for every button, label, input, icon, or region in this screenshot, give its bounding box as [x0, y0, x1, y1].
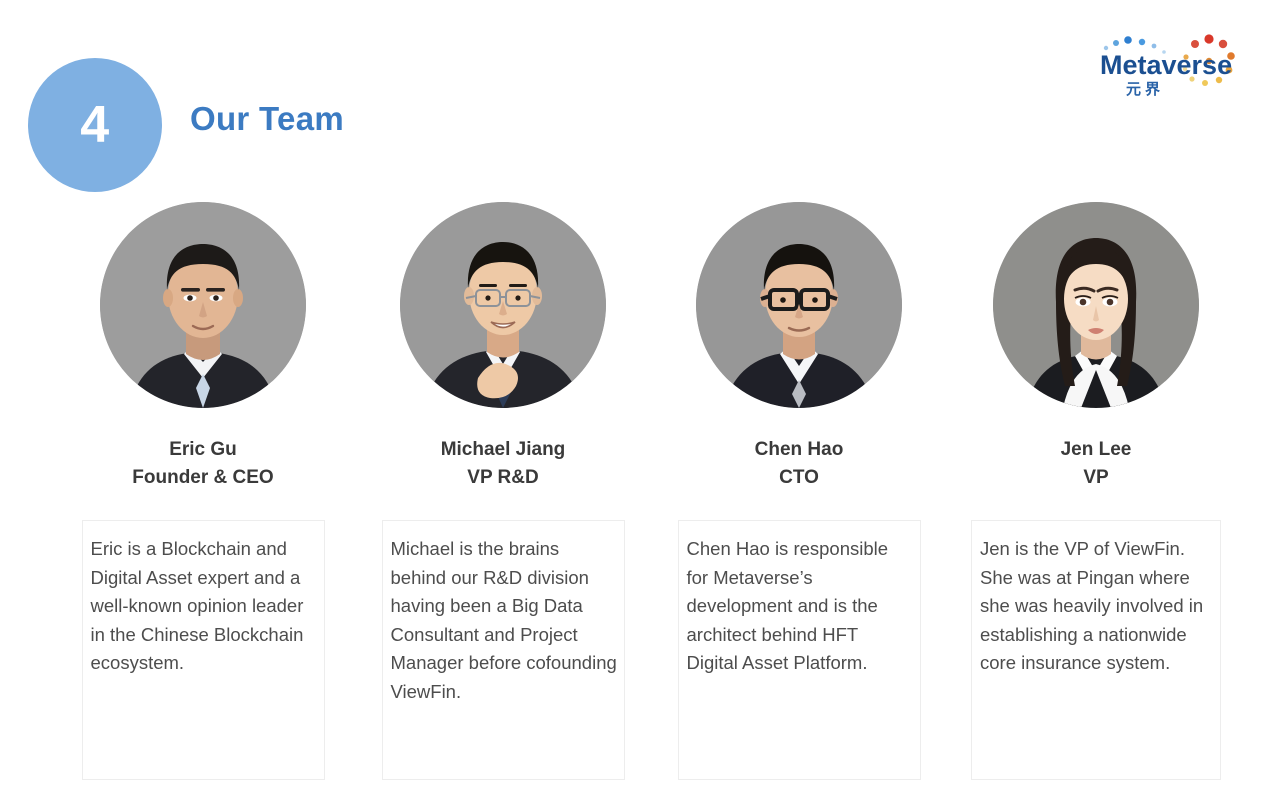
portrait-michael-jiang-icon	[400, 202, 606, 408]
member-name: Jen Lee	[948, 440, 1244, 459]
logo-subtext-chinese: 元界	[1126, 80, 1164, 98]
metaverse-logo: Metaverse 元界	[1064, 26, 1244, 106]
avatar	[100, 202, 306, 408]
metaverse-logo-svg: Metaverse 元界	[1064, 26, 1244, 106]
member-name: Eric Gu	[55, 440, 351, 459]
slide-header: 4 Our Team Metaverse	[0, 0, 1280, 195]
portrait-eric-gu-icon	[100, 202, 306, 408]
logo-wordmark-text: Metaverse	[1100, 50, 1232, 80]
team-member-card: Jen Lee VP Jen is the VP of ViewFin. She…	[948, 196, 1244, 780]
member-role: VP	[948, 468, 1244, 487]
member-bio: Chen Hao is responsible for Metaverse’s …	[678, 520, 921, 780]
team-grid: Eric Gu Founder & CEO Eric is a Blockcha…	[0, 196, 1280, 800]
avatar	[400, 202, 606, 408]
member-bio: Michael is the brains behind our R&D div…	[382, 520, 625, 780]
team-member-card: Chen Hao CTO Chen Hao is responsible for…	[651, 196, 947, 780]
member-name: Michael Jiang	[355, 440, 651, 459]
team-member-card: Eric Gu Founder & CEO Eric is a Blockcha…	[55, 196, 351, 780]
member-bio: Jen is the VP of ViewFin. She was at Pin…	[971, 520, 1221, 780]
page-title: Our Team	[190, 100, 344, 138]
member-role: CTO	[651, 468, 947, 487]
portrait-chen-hao-icon	[696, 202, 902, 408]
member-role: VP R&D	[355, 468, 651, 487]
team-member-card: Michael Jiang VP R&D Michael is the brai…	[355, 196, 651, 780]
member-bio: Eric is a Blockchain and Digital Asset e…	[82, 520, 325, 780]
section-number-label: 4	[80, 99, 109, 151]
portrait-jen-lee-icon	[993, 202, 1199, 408]
member-role: Founder & CEO	[55, 468, 351, 487]
avatar	[696, 202, 902, 408]
member-name: Chen Hao	[651, 440, 947, 459]
avatar	[993, 202, 1199, 408]
section-number-badge: 4	[28, 58, 162, 192]
